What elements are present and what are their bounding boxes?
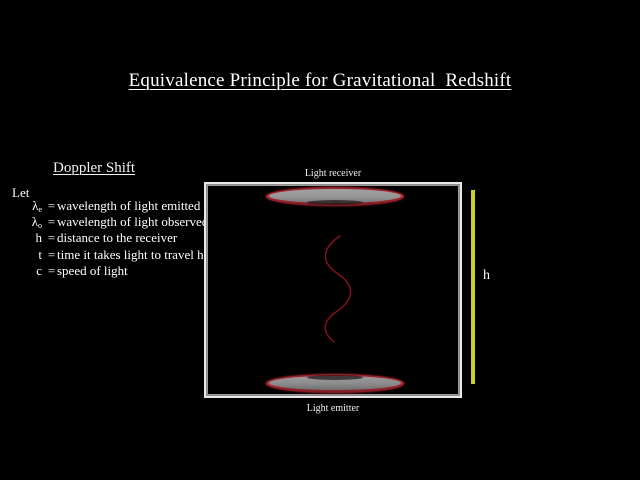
list-item: t = time it takes light to travel h bbox=[20, 248, 208, 264]
receiver-plate-dimple bbox=[307, 200, 362, 205]
definition-subscript: o bbox=[38, 221, 42, 230]
light-receiver-plate bbox=[266, 187, 404, 206]
definition-list: λe = wavelength of light emitted λo = wa… bbox=[20, 199, 208, 280]
height-measurement-line bbox=[471, 190, 475, 384]
doppler-shift-heading: Doppler Shift bbox=[53, 160, 135, 177]
equals-sign: = bbox=[46, 199, 57, 213]
definition-text: distance to the receiver bbox=[57, 231, 177, 245]
list-item: λo = wavelength of light observed bbox=[20, 215, 208, 231]
list-item: h = distance to the receiver bbox=[20, 231, 208, 247]
definition-text: wavelength of light emitted bbox=[57, 199, 200, 213]
slide-canvas: Equivalence Principle for Gravitational … bbox=[0, 0, 640, 480]
equals-sign: = bbox=[46, 248, 57, 262]
definition-symbol: λe bbox=[20, 199, 46, 215]
equals-sign: = bbox=[46, 231, 57, 245]
elevator-box-diagram: Light receiver Light emitter bbox=[204, 182, 462, 398]
light-emitter-label: Light emitter bbox=[204, 403, 462, 414]
list-item: c = speed of light bbox=[20, 264, 208, 280]
emitter-plate-dimple bbox=[307, 375, 362, 380]
light-wave-icon bbox=[314, 234, 364, 344]
definition-symbol: λo bbox=[20, 215, 46, 231]
definition-symbol: t bbox=[20, 248, 46, 264]
equals-sign: = bbox=[46, 215, 57, 229]
list-item: λe = wavelength of light emitted bbox=[20, 199, 208, 215]
light-emitter-plate bbox=[266, 374, 404, 393]
height-label: h bbox=[483, 268, 490, 284]
definition-symbol: h bbox=[20, 231, 46, 247]
definition-text: wavelength of light observed bbox=[57, 215, 208, 229]
light-receiver-label: Light receiver bbox=[204, 168, 462, 179]
definition-subscript: e bbox=[38, 205, 42, 214]
definition-text: speed of light bbox=[57, 264, 128, 278]
definition-text: time it takes light to travel h bbox=[57, 248, 204, 262]
page-title: Equivalence Principle for Gravitational … bbox=[0, 70, 640, 92]
definition-symbol: c bbox=[20, 264, 46, 280]
equals-sign: = bbox=[46, 264, 57, 278]
